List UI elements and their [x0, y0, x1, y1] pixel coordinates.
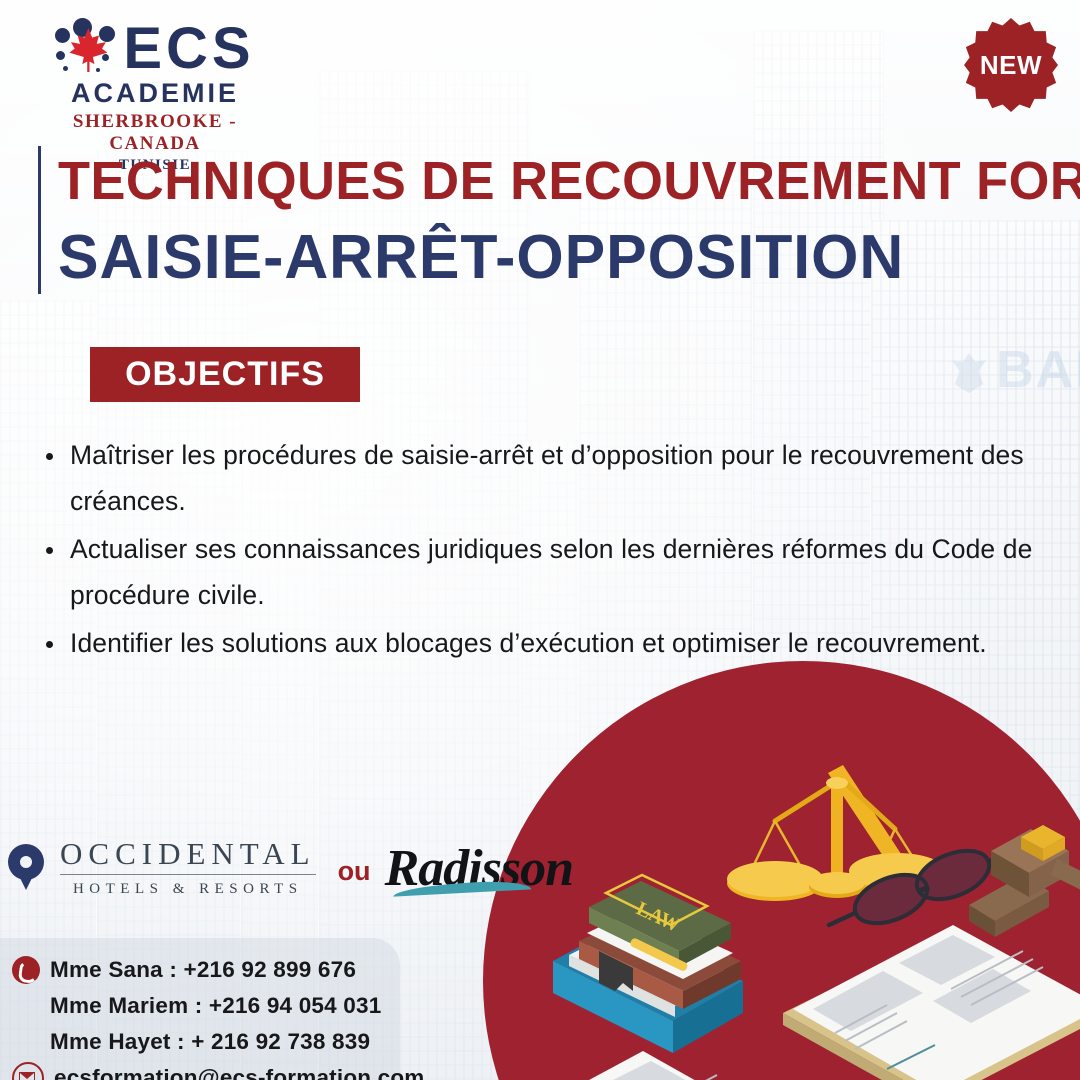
logo-dot [55, 28, 70, 43]
page-title: TECHNIQUES DE RECOUVREMENT FORCÉ [58, 150, 1080, 212]
contact-phone-row[interactable]: Mme Sana : +216 92 899 676 [12, 952, 425, 988]
radisson-logo: Radisson [385, 841, 574, 895]
venue-logos-row: OCCIDENTAL HOTELS & RESORTS ou Radisson [8, 838, 573, 898]
new-badge-label: NEW [980, 50, 1042, 81]
logo-location: SHERBROOKE - CANADA [30, 111, 280, 155]
objectives-banner-label: OBJECTIFS [125, 355, 325, 394]
logo-dot [99, 26, 115, 42]
new-badge: NEW [964, 18, 1058, 112]
logo-dot [63, 66, 68, 71]
logo-dot [102, 54, 109, 61]
logo-wordmark-row: ECS [30, 18, 280, 80]
contact-block: Mme Sana : +216 92 899 676 Mme Mariem : … [12, 952, 425, 1080]
occidental-name: OCCIDENTAL [60, 838, 316, 875]
envelope-shape [19, 1072, 35, 1080]
open-documents [783, 925, 1080, 1080]
objectives-list: Maîtriser les procédures de saisie-arrêt… [38, 432, 1038, 668]
logo-dot [96, 68, 100, 72]
map-pin-icon [8, 844, 44, 892]
contact-email: ecsformation@ecs-formation.com [54, 1065, 425, 1080]
contact-phone-3: Mme Hayet : + 216 92 738 839 [50, 1029, 370, 1055]
phone-icon [12, 956, 40, 984]
icon-spacer [12, 992, 40, 1020]
gavel [969, 825, 1080, 937]
logo-subtitle: ACADEMIE [30, 78, 280, 109]
title-accent-rule [38, 146, 41, 294]
contact-phone-row[interactable]: Mme Mariem : +216 94 054 031 [12, 988, 425, 1024]
occidental-tagline: HOTELS & RESORTS [60, 881, 316, 898]
logo-acronym: ECS [123, 22, 254, 75]
list-item: Maîtriser les procédures de saisie-arrêt… [38, 432, 1038, 524]
objectives-banner: OBJECTIFS [90, 347, 360, 402]
contact-phone-row[interactable]: Mme Hayet : + 216 92 738 839 [12, 1024, 425, 1060]
poster-canvas: BARC ECS ACADEMIE SHERBROOKE - CANADA TU… [0, 0, 1080, 1080]
venue-conjunction: ou [338, 850, 371, 887]
logo-dot [56, 51, 65, 60]
maple-leaf-icon [55, 18, 119, 80]
contact-phone-1: Mme Sana : +216 92 899 676 [50, 957, 356, 983]
list-item: Identifier les solutions aux blocages d’… [38, 620, 1038, 666]
occidental-logo: OCCIDENTAL HOTELS & RESORTS [60, 838, 316, 898]
contact-phone-2: Mme Mariem : +216 94 054 031 [50, 993, 381, 1019]
law-books-stack: LAW [553, 875, 743, 1053]
map-pin-hole [20, 856, 32, 868]
contact-email-row[interactable]: ecsformation@ecs-formation.com [12, 1060, 425, 1080]
list-item: Actualiser ses connaissances juridiques … [38, 526, 1038, 618]
page-subtitle: SAISIE-ARRÊT-OPPOSITION [58, 222, 904, 293]
icon-spacer [12, 1028, 40, 1056]
email-icon [12, 1062, 44, 1080]
open-documents [483, 1051, 813, 1080]
